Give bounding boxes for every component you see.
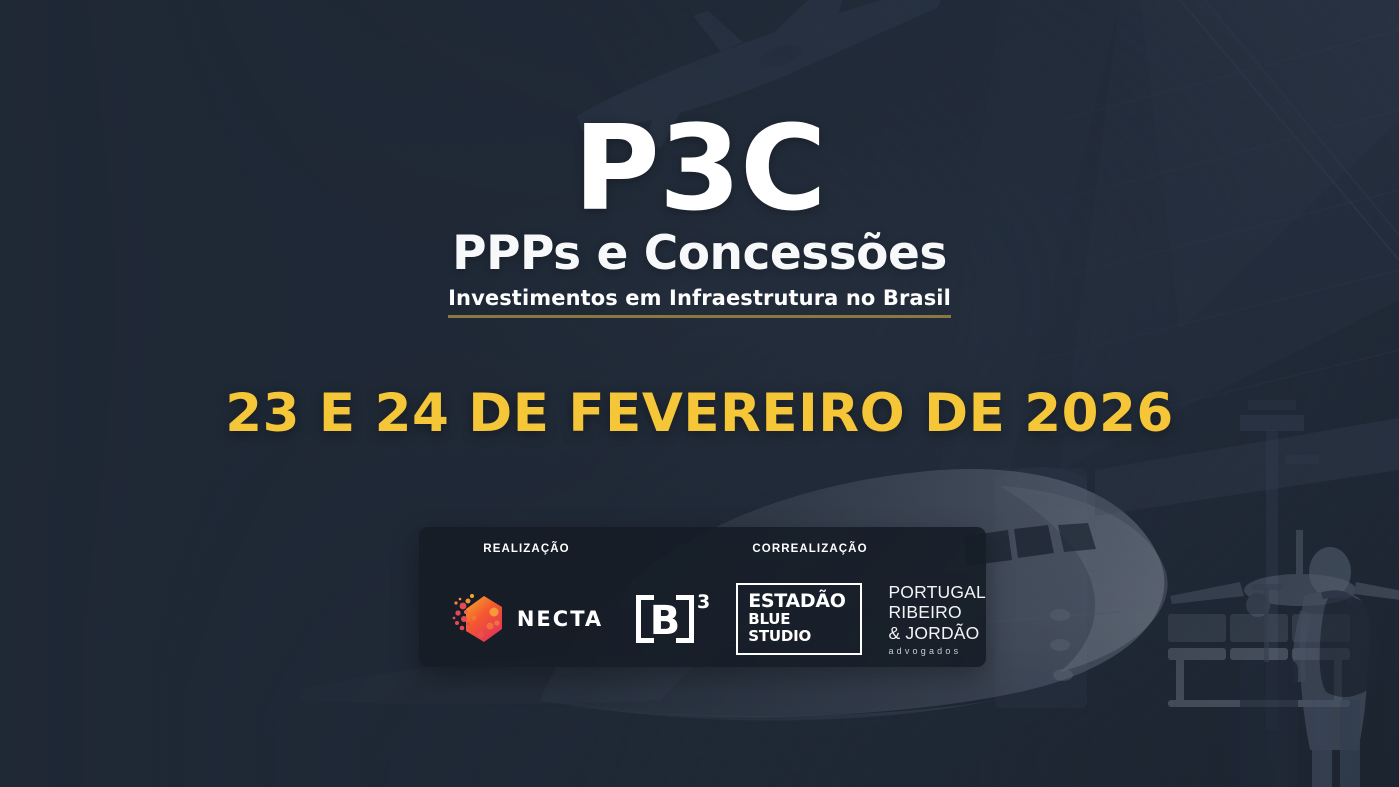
light-pole bbox=[1240, 400, 1319, 730]
prj-line4: advogados bbox=[888, 646, 986, 656]
necta-wordmark: NECTA bbox=[517, 607, 603, 631]
waiting-area-seats bbox=[1168, 614, 1350, 707]
prj-line1: PORTUGAL bbox=[888, 582, 986, 603]
event-date-line: 23 E 24 DE FEVEREIRO DE 2026 bbox=[0, 383, 1399, 444]
logo-b3[interactable]: B 3 bbox=[634, 591, 710, 647]
logo-subtitle: PPPs e Concessões bbox=[0, 230, 1399, 277]
event-poster: P3C PPPs e Concessões Investimentos em I… bbox=[0, 0, 1399, 787]
event-date: 23 E 24 DE FEVEREIRO DE 2026 bbox=[0, 383, 1399, 444]
traveler-with-backpack bbox=[1240, 547, 1378, 787]
tagline-underline: Investimentos em Infraestrutura no Brasi… bbox=[448, 286, 951, 318]
control-tower bbox=[995, 467, 1087, 708]
b3-bracket-icon: B bbox=[634, 591, 696, 647]
sponsor-panel: REALIZAÇÃO bbox=[419, 527, 986, 667]
sponsor-group-label-correalizacao: CORREALIZAÇÃO bbox=[752, 543, 867, 555]
distant-airplane bbox=[1170, 530, 1399, 617]
logo-portugal-ribeiro-jordao[interactable]: PORTUGAL RIBEIRO & JORDÃO advogados bbox=[888, 582, 986, 657]
prj-line2: RIBEIRO bbox=[888, 602, 986, 623]
logo-estadao-blue-studio[interactable]: ESTADÃO BLUE STUDIO bbox=[736, 583, 862, 656]
logo-necta[interactable]: NECTA bbox=[450, 590, 603, 648]
sponsor-group-correalizacao: CORREALIZAÇÃO bbox=[634, 527, 986, 667]
svg-text:B: B bbox=[650, 598, 681, 644]
b3-superscript: 3 bbox=[697, 593, 710, 612]
logo-p3c: P3C bbox=[0, 112, 1399, 224]
prj-line3: & JORDÃO bbox=[888, 623, 986, 644]
sponsor-group-realizacao: REALIZAÇÃO bbox=[419, 527, 634, 667]
necta-hexagon-icon bbox=[450, 590, 508, 648]
event-logo-block: P3C PPPs e Concessões Investimentos em I… bbox=[0, 112, 1399, 318]
sponsor-group-label-realizacao: REALIZAÇÃO bbox=[483, 543, 569, 555]
tagline: Investimentos em Infraestrutura no Brasi… bbox=[448, 286, 951, 310]
estadao-line1: ESTADÃO bbox=[748, 592, 850, 611]
estadao-line2: BLUE STUDIO bbox=[748, 611, 850, 646]
